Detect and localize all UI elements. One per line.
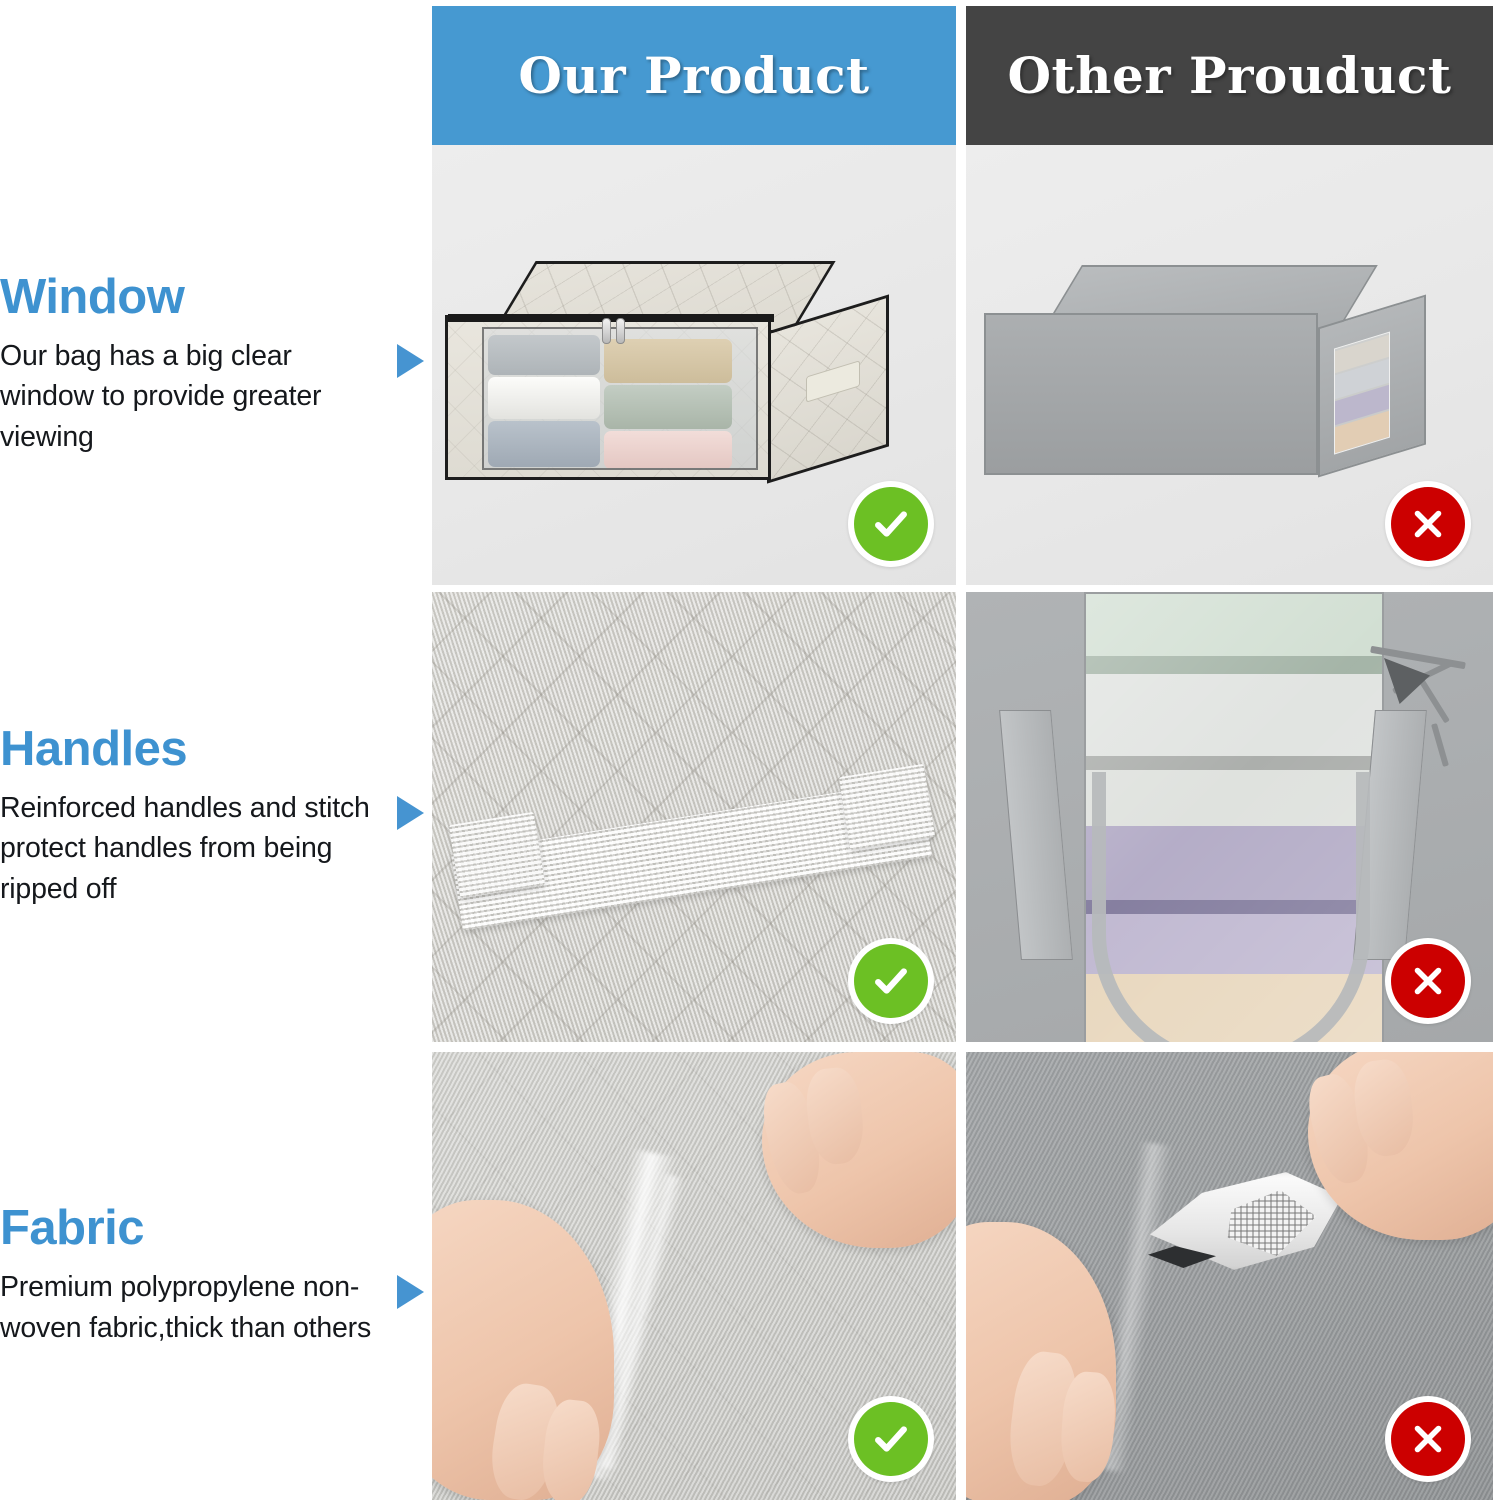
zipper-pull (616, 318, 625, 344)
handle-stitched-end (449, 812, 546, 899)
comparison-infographic: Our Product Other Prouduct Window Our ba… (0, 0, 1493, 1500)
header-our-product: Our Product (432, 6, 956, 145)
feature-window-title: Window (0, 273, 424, 322)
photo-other-window (966, 145, 1493, 585)
bag-zipper (448, 314, 774, 322)
check-circle-icon (869, 1417, 913, 1461)
triangle-right-icon (397, 796, 424, 830)
feature-window-description: Our bag has a big clear window to provid… (0, 336, 391, 457)
x-circle-icon (1407, 503, 1449, 545)
triangle-right-icon (397, 1275, 424, 1309)
feature-handles-title: Handles (0, 725, 424, 774)
header-our-product-label: Our Product (518, 46, 869, 105)
check-circle-icon (869, 502, 913, 546)
x-circle-icon (1407, 960, 1449, 1002)
photo-our-window (432, 145, 956, 585)
status-badge-pass (848, 481, 934, 567)
triangle-right-icon (397, 344, 424, 378)
header-other-product-label: Other Prouduct (1007, 46, 1451, 105)
bag-front-face (445, 315, 771, 480)
status-badge-fail (1385, 938, 1471, 1024)
photo-our-fabric (432, 1052, 956, 1500)
header-other-product: Other Prouduct (966, 6, 1493, 145)
photo-other-fabric (966, 1052, 1493, 1500)
competitor-small-window (1334, 331, 1390, 454)
feature-handles-description: Reinforced handles and stitch protect ha… (0, 788, 391, 909)
bag-clear-window (482, 327, 758, 470)
competitor-handle-loop (1092, 772, 1370, 1042)
feature-handles: Handles Reinforced handles and stitch pr… (0, 592, 432, 1042)
feature-fabric-description: Premium polypropylene non-woven fabric,t… (0, 1267, 391, 1348)
handle-stitched-end (839, 764, 936, 851)
feature-fabric-title: Fabric (0, 1204, 424, 1253)
check-circle-icon (869, 959, 913, 1003)
status-badge-pass (848, 938, 934, 1024)
status-badge-pass (848, 1396, 934, 1482)
status-badge-fail (1385, 1396, 1471, 1482)
x-circle-icon (1407, 1418, 1449, 1460)
feature-fabric: Fabric Premium polypropylene non-woven f… (0, 1052, 432, 1500)
photo-other-handle (966, 592, 1493, 1042)
competitor-bag-front (984, 313, 1318, 475)
status-badge-fail (1385, 481, 1471, 567)
feature-window: Window Our bag has a big clear window to… (0, 145, 432, 585)
photo-our-handle (432, 592, 956, 1042)
zipper-pull (602, 318, 611, 344)
